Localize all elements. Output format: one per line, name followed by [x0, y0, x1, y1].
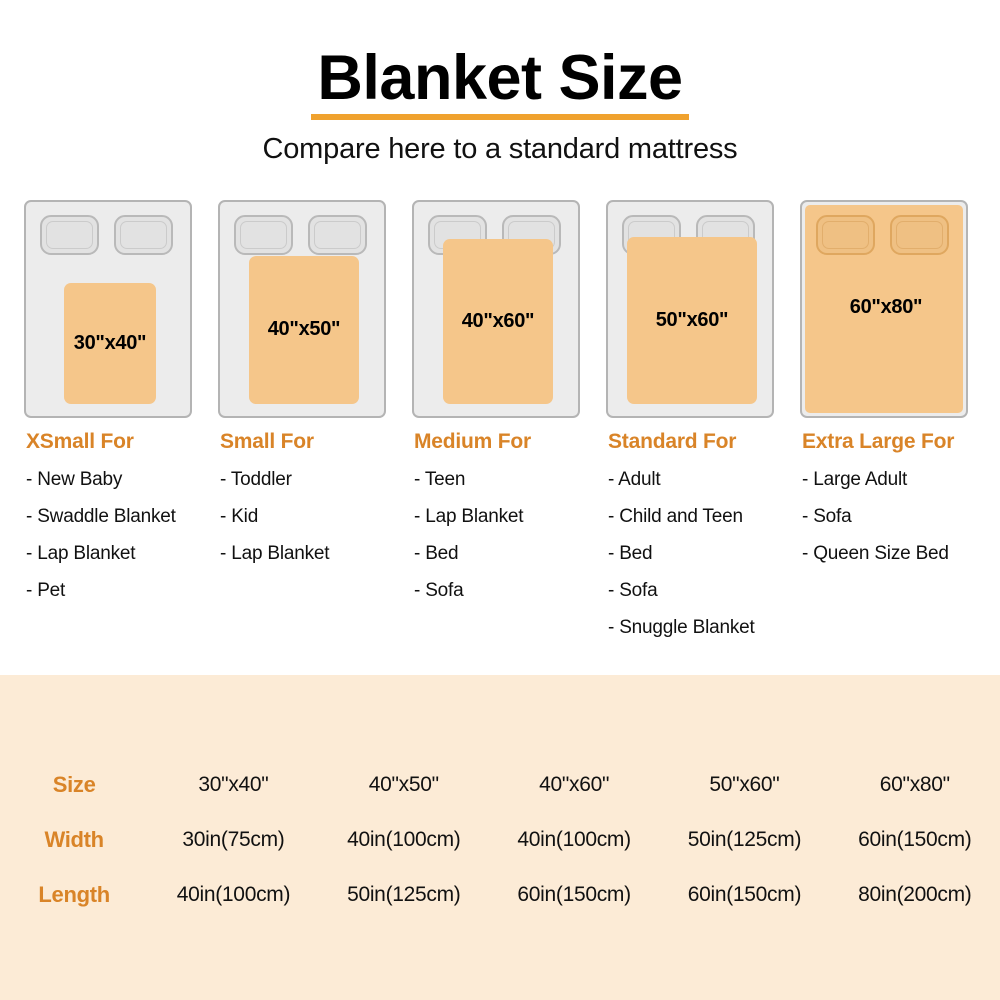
category-use-list: - Toddler - Kid - Lap Blanket: [220, 469, 388, 565]
size-specification-table: Size 30"x40" 40"x50" 40"x60" 50"x60" 60"…: [0, 757, 1000, 922]
category-column-xsmall: XSmall For - New Baby - Swaddle Blanket …: [0, 430, 194, 639]
page-subtitle: Compare here to a standard mattress: [0, 133, 1000, 166]
page-header: Blanket Size Compare here to a standard …: [0, 0, 1000, 166]
blanket-overlay: 60"x80": [805, 201, 967, 413]
category-use-list: - Large Adult - Sofa - Queen Size Bed: [802, 469, 976, 565]
list-item: - Sofa: [802, 506, 976, 528]
table-cell: 50"x60": [659, 757, 829, 812]
pillow-icon: [234, 215, 293, 255]
row-label-size: Size: [0, 757, 148, 812]
table-cell: 60in(150cm): [659, 867, 829, 922]
table-cell: 60in(150cm): [489, 867, 659, 922]
category-title: Medium For: [414, 430, 582, 454]
bed-cell: 60"x80": [776, 200, 970, 422]
table-cell: 40"x60": [489, 757, 659, 812]
category-use-list: - Teen - Lap Blanket - Bed - Sofa: [414, 469, 582, 602]
pillow-icon: [308, 215, 367, 255]
list-item: - Lap Blanket: [26, 543, 194, 565]
bed-cell: 50"x60": [582, 200, 776, 422]
list-item: - Lap Blanket: [220, 543, 388, 565]
blanket-overlay: 40"x50": [249, 256, 359, 404]
category-column-standard: Standard For - Adult - Child and Teen - …: [582, 430, 776, 639]
list-item: - Swaddle Blanket: [26, 506, 194, 528]
table-cell: 80in(200cm): [830, 867, 1000, 922]
table-cell: 40in(100cm): [148, 867, 318, 922]
category-column-extra-large: Extra Large For - Large Adult - Sofa - Q…: [776, 430, 976, 639]
category-title: Standard For: [608, 430, 776, 454]
list-item: - Bed: [608, 543, 776, 565]
bed-cell: 30"x40": [0, 200, 194, 422]
list-item: - Queen Size Bed: [802, 543, 976, 565]
list-item: - Sofa: [608, 580, 776, 602]
blanket-size-label: 40"x60": [462, 310, 534, 333]
mattress-diagram: 30"x40": [24, 200, 192, 418]
row-label-width: Width: [0, 812, 148, 867]
pillow-icon: [114, 215, 173, 255]
blanket-size-label: 40"x50": [268, 318, 340, 341]
table-cell: 30"x40": [148, 757, 318, 812]
list-item: - Pet: [26, 580, 194, 602]
list-item: - Adult: [608, 469, 776, 491]
list-item: - Lap Blanket: [414, 506, 582, 528]
bed-cell: 40"x50": [194, 200, 388, 422]
bed-cell: 40"x60": [388, 200, 582, 422]
blanket-overlay: 30"x40": [64, 283, 156, 404]
category-title: Small For: [220, 430, 388, 454]
table-row: Size 30"x40" 40"x50" 40"x60" 50"x60" 60"…: [0, 757, 1000, 812]
mattress-diagram: 50"x60": [606, 200, 774, 418]
table-cell: 40"x50": [319, 757, 489, 812]
list-item: - Snuggle Blanket: [608, 617, 776, 639]
size-table-band: Size 30"x40" 40"x50" 40"x60" 50"x60" 60"…: [0, 675, 1000, 1000]
category-column-medium: Medium For - Teen - Lap Blanket - Bed - …: [388, 430, 582, 639]
list-item: - Kid: [220, 506, 388, 528]
blanket-overlay: 40"x60": [443, 239, 553, 404]
bed-diagrams-row: 30"x40" 40"x50" 40"x60": [0, 200, 1000, 422]
mattress-diagram: 60"x80": [800, 200, 968, 418]
mattress-diagram: 40"x50": [218, 200, 386, 418]
blanket-size-label: 50"x60": [656, 309, 728, 332]
list-item: - Sofa: [414, 580, 582, 602]
list-item: - Child and Teen: [608, 506, 776, 528]
category-use-list: - New Baby - Swaddle Blanket - Lap Blank…: [26, 469, 194, 602]
category-use-list: - Adult - Child and Teen - Bed - Sofa - …: [608, 469, 776, 639]
category-title: Extra Large For: [802, 430, 976, 454]
list-item: - Teen: [414, 469, 582, 491]
mattress-diagram: 40"x60": [412, 200, 580, 418]
list-item: - Bed: [414, 543, 582, 565]
category-title: XSmall For: [26, 430, 194, 454]
table-cell: 30in(75cm): [148, 812, 318, 867]
blanket-overlay: 50"x60": [627, 237, 757, 404]
pillow-icon: [40, 215, 99, 255]
list-item: - Toddler: [220, 469, 388, 491]
table-cell: 40in(100cm): [489, 812, 659, 867]
row-label-length: Length: [0, 867, 148, 922]
category-column-small: Small For - Toddler - Kid - Lap Blanket: [194, 430, 388, 639]
blanket-size-label: 30"x40": [74, 332, 146, 355]
table-cell: 40in(100cm): [319, 812, 489, 867]
list-item: - Large Adult: [802, 469, 976, 491]
blanket-size-label: 60"x80": [850, 296, 922, 319]
page-title: Blanket Size: [311, 46, 688, 120]
table-cell: 60"x80": [830, 757, 1000, 812]
list-item: - New Baby: [26, 469, 194, 491]
table-cell: 60in(150cm): [830, 812, 1000, 867]
table-cell: 50in(125cm): [659, 812, 829, 867]
table-row: Width 30in(75cm) 40in(100cm) 40in(100cm)…: [0, 812, 1000, 867]
table-cell: 50in(125cm): [319, 867, 489, 922]
category-descriptions-row: XSmall For - New Baby - Swaddle Blanket …: [0, 430, 1000, 639]
table-row: Length 40in(100cm) 50in(125cm) 60in(150c…: [0, 867, 1000, 922]
